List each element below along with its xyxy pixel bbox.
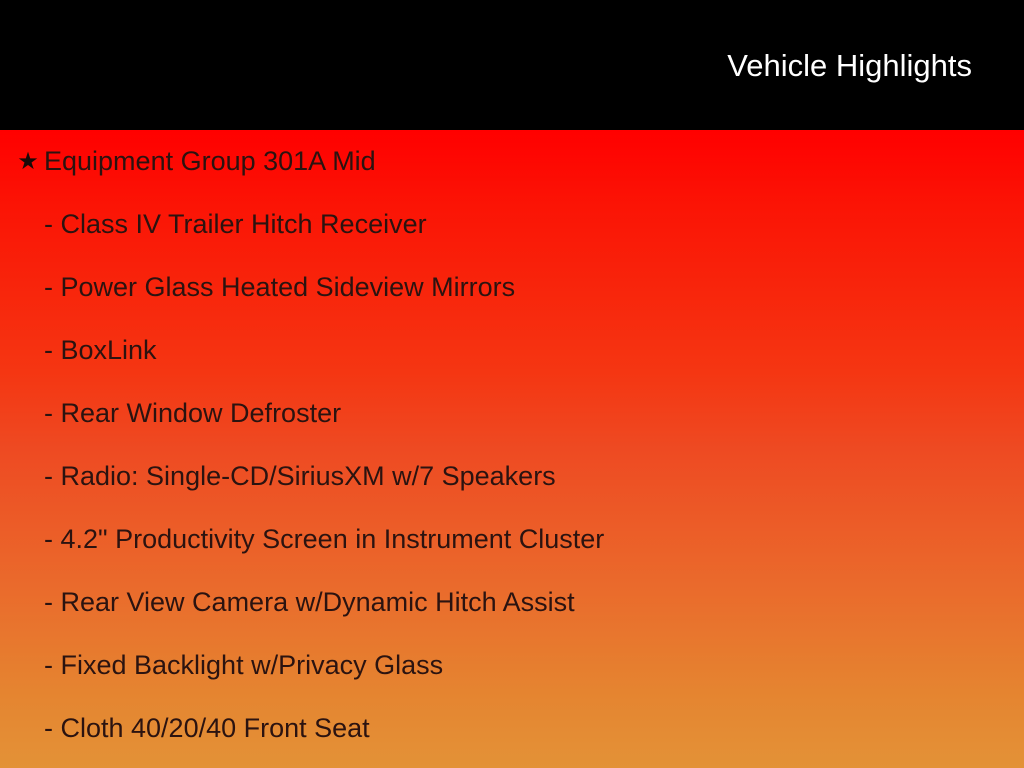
list-item: - 4.2" Productivity Screen in Instrument… [0,508,1024,571]
list-item-label: - Power Glass Heated Sideview Mirrors [44,256,515,319]
star-icon: ★ [16,130,40,193]
list-item: - Rear View Camera w/Dynamic Hitch Assis… [0,571,1024,634]
list-item-label: - Radio: Single-CD/SiriusXM w/7 Speakers [44,445,556,508]
page-title: Vehicle Highlights [727,48,972,84]
list-item: - Radio: Single-CD/SiriusXM w/7 Speakers [0,445,1024,508]
list-item: ★ Equipment Group 301A Mid [0,130,1024,193]
list-item: - Power Glass Heated Sideview Mirrors [0,256,1024,319]
list-item-label: - 4.2" Productivity Screen in Instrument… [44,508,604,571]
list-item: - Cloth 40/20/40 Front Seat [0,697,1024,760]
vehicle-highlights-slide: Vehicle Highlights ★ Equipment Group 301… [0,0,1024,768]
list-item-label: - BoxLink [44,319,157,382]
header-band: Vehicle Highlights [0,0,1024,130]
list-item: - Class IV Trailer Hitch Receiver [0,193,1024,256]
list-item-label: - Cloth 40/20/40 Front Seat [44,697,370,760]
list-item-label: - Rear Window Defroster [44,382,341,445]
list-item: - Rear Window Defroster [0,382,1024,445]
list-item-label: - Fixed Backlight w/Privacy Glass [44,634,443,697]
list-item: - BoxLink [0,319,1024,382]
vehicle-features-list: ★ Equipment Group 301A Mid - Class IV Tr… [0,130,1024,760]
features-panel: ★ Equipment Group 301A Mid - Class IV Tr… [0,130,1024,768]
list-item-label: Equipment Group 301A Mid [44,130,376,193]
list-item-label: - Rear View Camera w/Dynamic Hitch Assis… [44,571,575,634]
list-item-label: - Class IV Trailer Hitch Receiver [44,193,427,256]
list-item: - Fixed Backlight w/Privacy Glass [0,634,1024,697]
